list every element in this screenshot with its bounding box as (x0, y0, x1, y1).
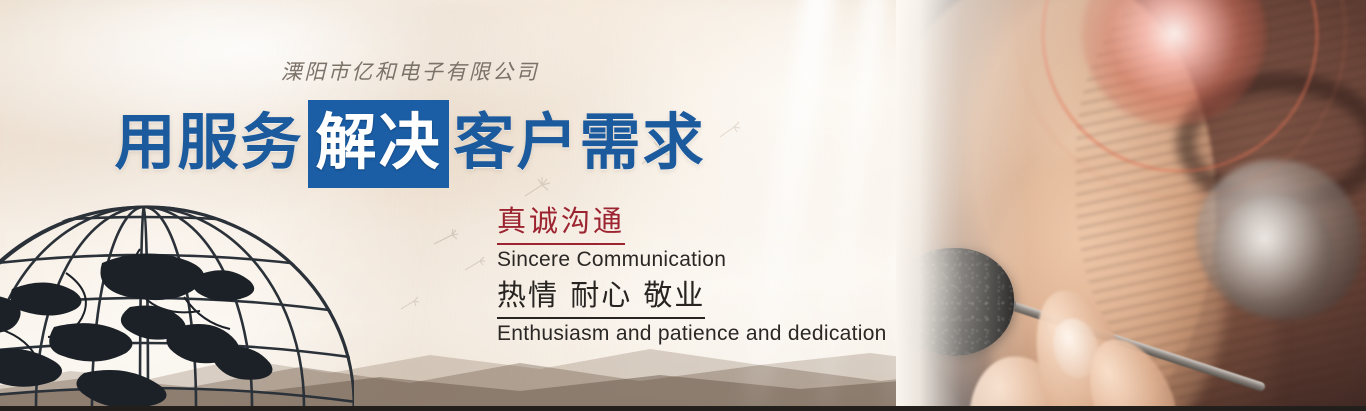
tagline-1-cn: 真诚沟通 (497, 198, 625, 245)
promotional-banner: 溧阳市亿和电子有限公司 用服务解决客户需求 真诚沟通 Sincere Commu… (0, 0, 1366, 411)
headline-after: 客户需求 (454, 107, 706, 178)
bottom-bar (0, 406, 1366, 411)
tagline-1: 真诚沟通 Sincere Communication (497, 198, 726, 272)
headline-before: 用服务 (114, 107, 303, 178)
tagline-1-en: Sincere Communication (497, 248, 726, 272)
company-name: 溧阳市亿和电子有限公司 (0, 56, 820, 86)
tagline-2-en: Enthusiasm and patience and dedication (497, 322, 887, 346)
tagline-2: 热情 耐心 敬业 Enthusiasm and patience and ded… (497, 272, 887, 346)
headline: 用服务解决客户需求 (0, 100, 820, 188)
banner-copy: 溧阳市亿和电子有限公司 用服务解决客户需求 真诚沟通 Sincere Commu… (0, 0, 900, 411)
headset-portrait-photo (896, 0, 1366, 411)
tagline-2-cn: 热情 耐心 敬业 (497, 272, 705, 319)
headline-highlight: 解决 (308, 100, 448, 188)
